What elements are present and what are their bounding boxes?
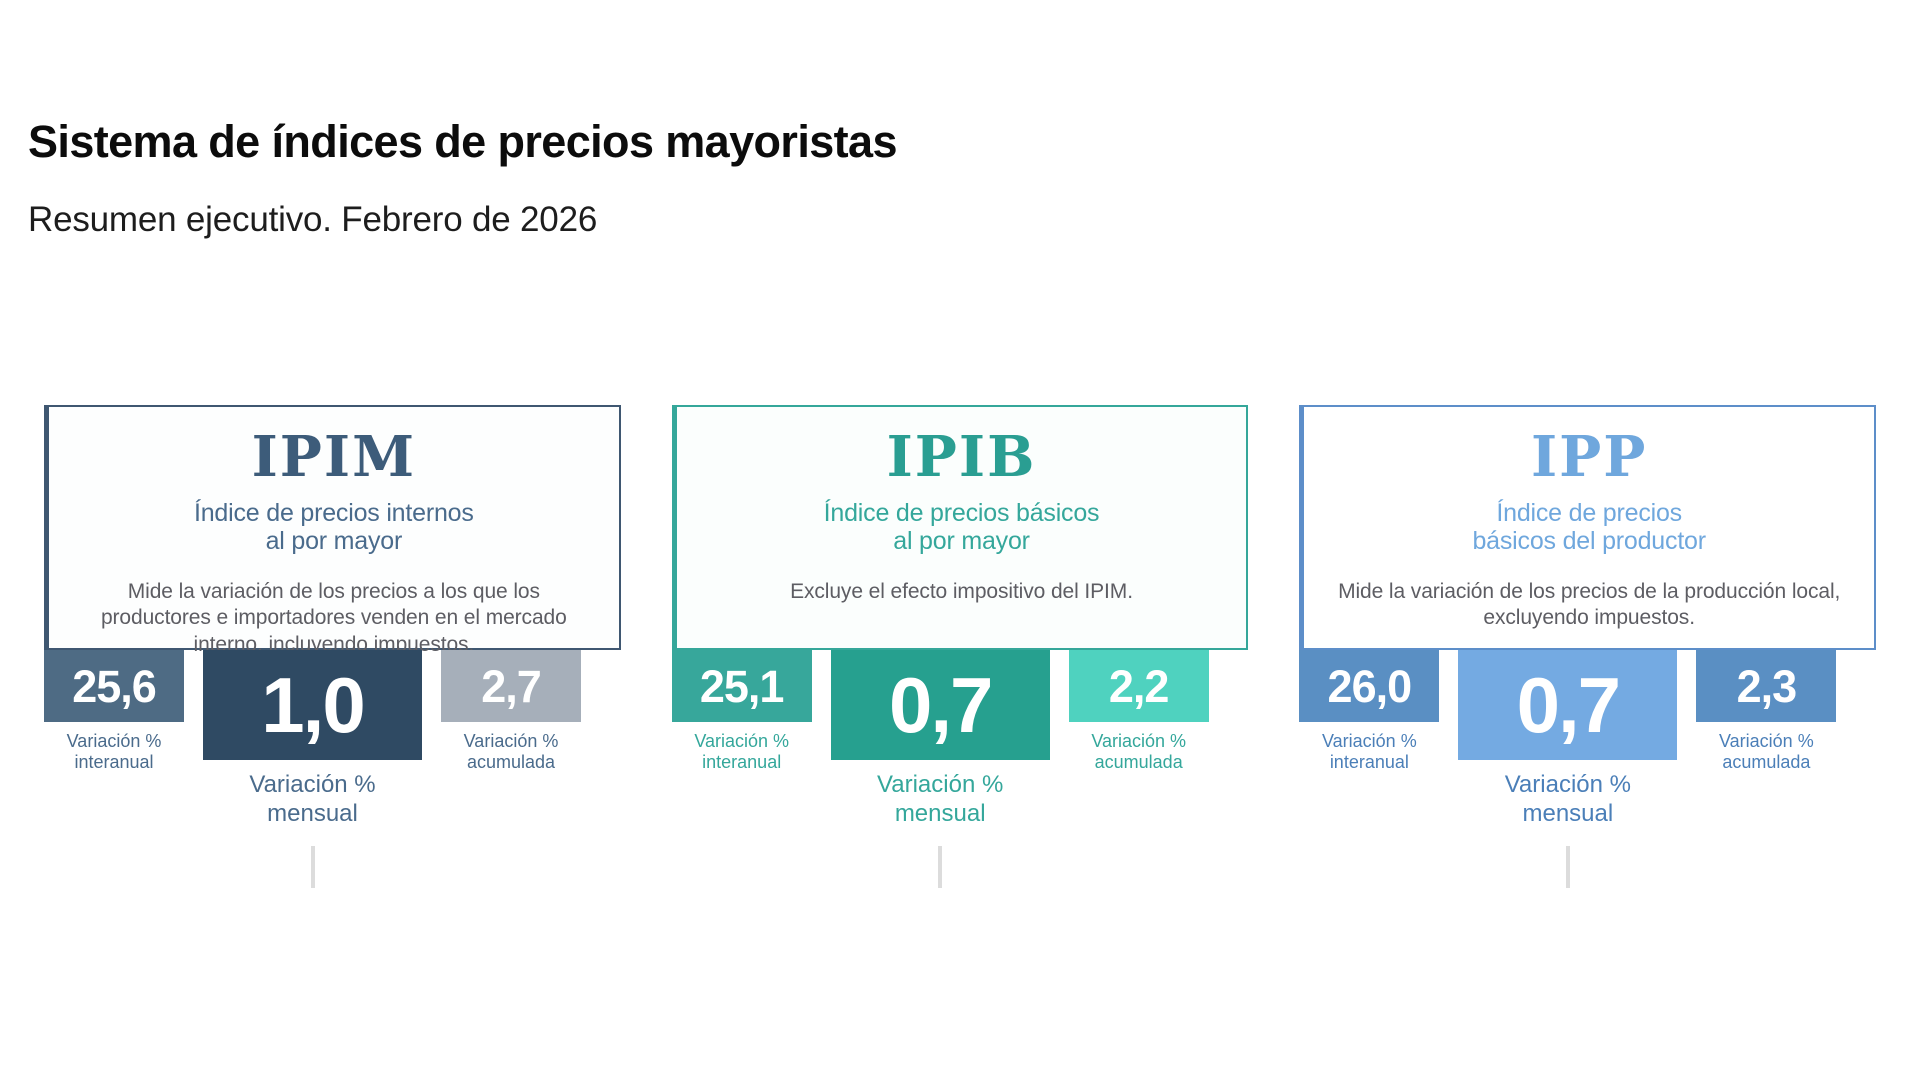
card-fullname: Índice de precios internos al por mayor xyxy=(63,499,605,555)
stat-value: 25,6 xyxy=(44,650,184,722)
stat-acumulada: 2,2 Variación % acumulada xyxy=(1069,650,1209,772)
stat-value: 2,3 xyxy=(1696,650,1836,722)
index-cards-row: IPIM Índice de precios internos al por m… xyxy=(44,405,1876,845)
card-acronym: IPP xyxy=(1318,429,1860,485)
card-body-ipib: IPIB Índice de precios básicos al por ma… xyxy=(672,405,1249,650)
stat-label: Variación % interanual xyxy=(672,731,812,772)
stat-label: Variación % acumulada xyxy=(1696,731,1836,772)
stat-value: 0,7 xyxy=(1458,650,1677,760)
stat-value: 2,2 xyxy=(1069,650,1209,722)
stat-label: Variación % mensual xyxy=(203,771,422,829)
index-card-ipib: IPIB Índice de precios básicos al por ma… xyxy=(672,405,1249,845)
card-description: Mide la variación de los precios a los q… xyxy=(63,579,605,658)
stat-label: Variación % interanual xyxy=(1299,731,1439,772)
header-block: Sistema de índices de precios mayoristas… xyxy=(28,118,1428,240)
stat-interanual: 25,6 Variación % interanual xyxy=(44,650,184,772)
stat-label: Variación % mensual xyxy=(1458,771,1677,829)
index-card-ipim: IPIM Índice de precios internos al por m… xyxy=(44,405,621,845)
stat-mensual: 0,7 Variación % mensual xyxy=(831,650,1050,829)
stats-strip-ipib: 25,1 Variación % interanual 0,7 Variació… xyxy=(672,650,1249,845)
connector-line xyxy=(1566,846,1570,888)
card-description: Excluye el efecto impositivo del IPIM. xyxy=(691,579,1233,605)
stat-value: 26,0 xyxy=(1299,650,1439,722)
infographic-page: Sistema de índices de precios mayoristas… xyxy=(0,0,1920,1080)
card-fullname: Índice de precios básicos al por mayor xyxy=(691,499,1233,555)
card-description: Mide la variación de los precios de la p… xyxy=(1318,579,1860,632)
stat-mensual: 0,7 Variación % mensual xyxy=(1458,650,1677,829)
card-acronym: IPIM xyxy=(63,429,605,485)
stat-value: 1,0 xyxy=(203,650,422,760)
stat-mensual: 1,0 Variación % mensual xyxy=(203,650,422,829)
index-card-ipp: IPP Índice de precios básicos del produc… xyxy=(1299,405,1876,845)
card-body-ipim: IPIM Índice de precios internos al por m… xyxy=(44,405,621,650)
stats-strip-ipim: 25,6 Variación % interanual 1,0 Variació… xyxy=(44,650,621,845)
stat-value: 0,7 xyxy=(831,650,1050,760)
card-acronym: IPIB xyxy=(691,429,1233,485)
stat-value: 25,1 xyxy=(672,650,812,722)
page-title: Sistema de índices de precios mayoristas xyxy=(28,118,1428,165)
stat-interanual: 25,1 Variación % interanual xyxy=(672,650,812,772)
stat-acumulada: 2,7 Variación % acumulada xyxy=(441,650,581,772)
stats-strip-ipp: 26,0 Variación % interanual 0,7 Variació… xyxy=(1299,650,1876,845)
stat-acumulada: 2,3 Variación % acumulada xyxy=(1696,650,1836,772)
stat-value: 2,7 xyxy=(441,650,581,722)
connector-line xyxy=(311,846,315,888)
stat-label: Variación % interanual xyxy=(44,731,184,772)
stat-interanual: 26,0 Variación % interanual xyxy=(1299,650,1439,772)
stat-label: Variación % mensual xyxy=(831,771,1050,829)
stat-label: Variación % acumulada xyxy=(441,731,581,772)
card-fullname: Índice de precios básicos del productor xyxy=(1318,499,1860,555)
connector-line xyxy=(938,846,942,888)
card-body-ipp: IPP Índice de precios básicos del produc… xyxy=(1299,405,1876,650)
page-subtitle: Resumen ejecutivo. Febrero de 2026 xyxy=(28,201,1428,240)
stat-label: Variación % acumulada xyxy=(1069,731,1209,772)
